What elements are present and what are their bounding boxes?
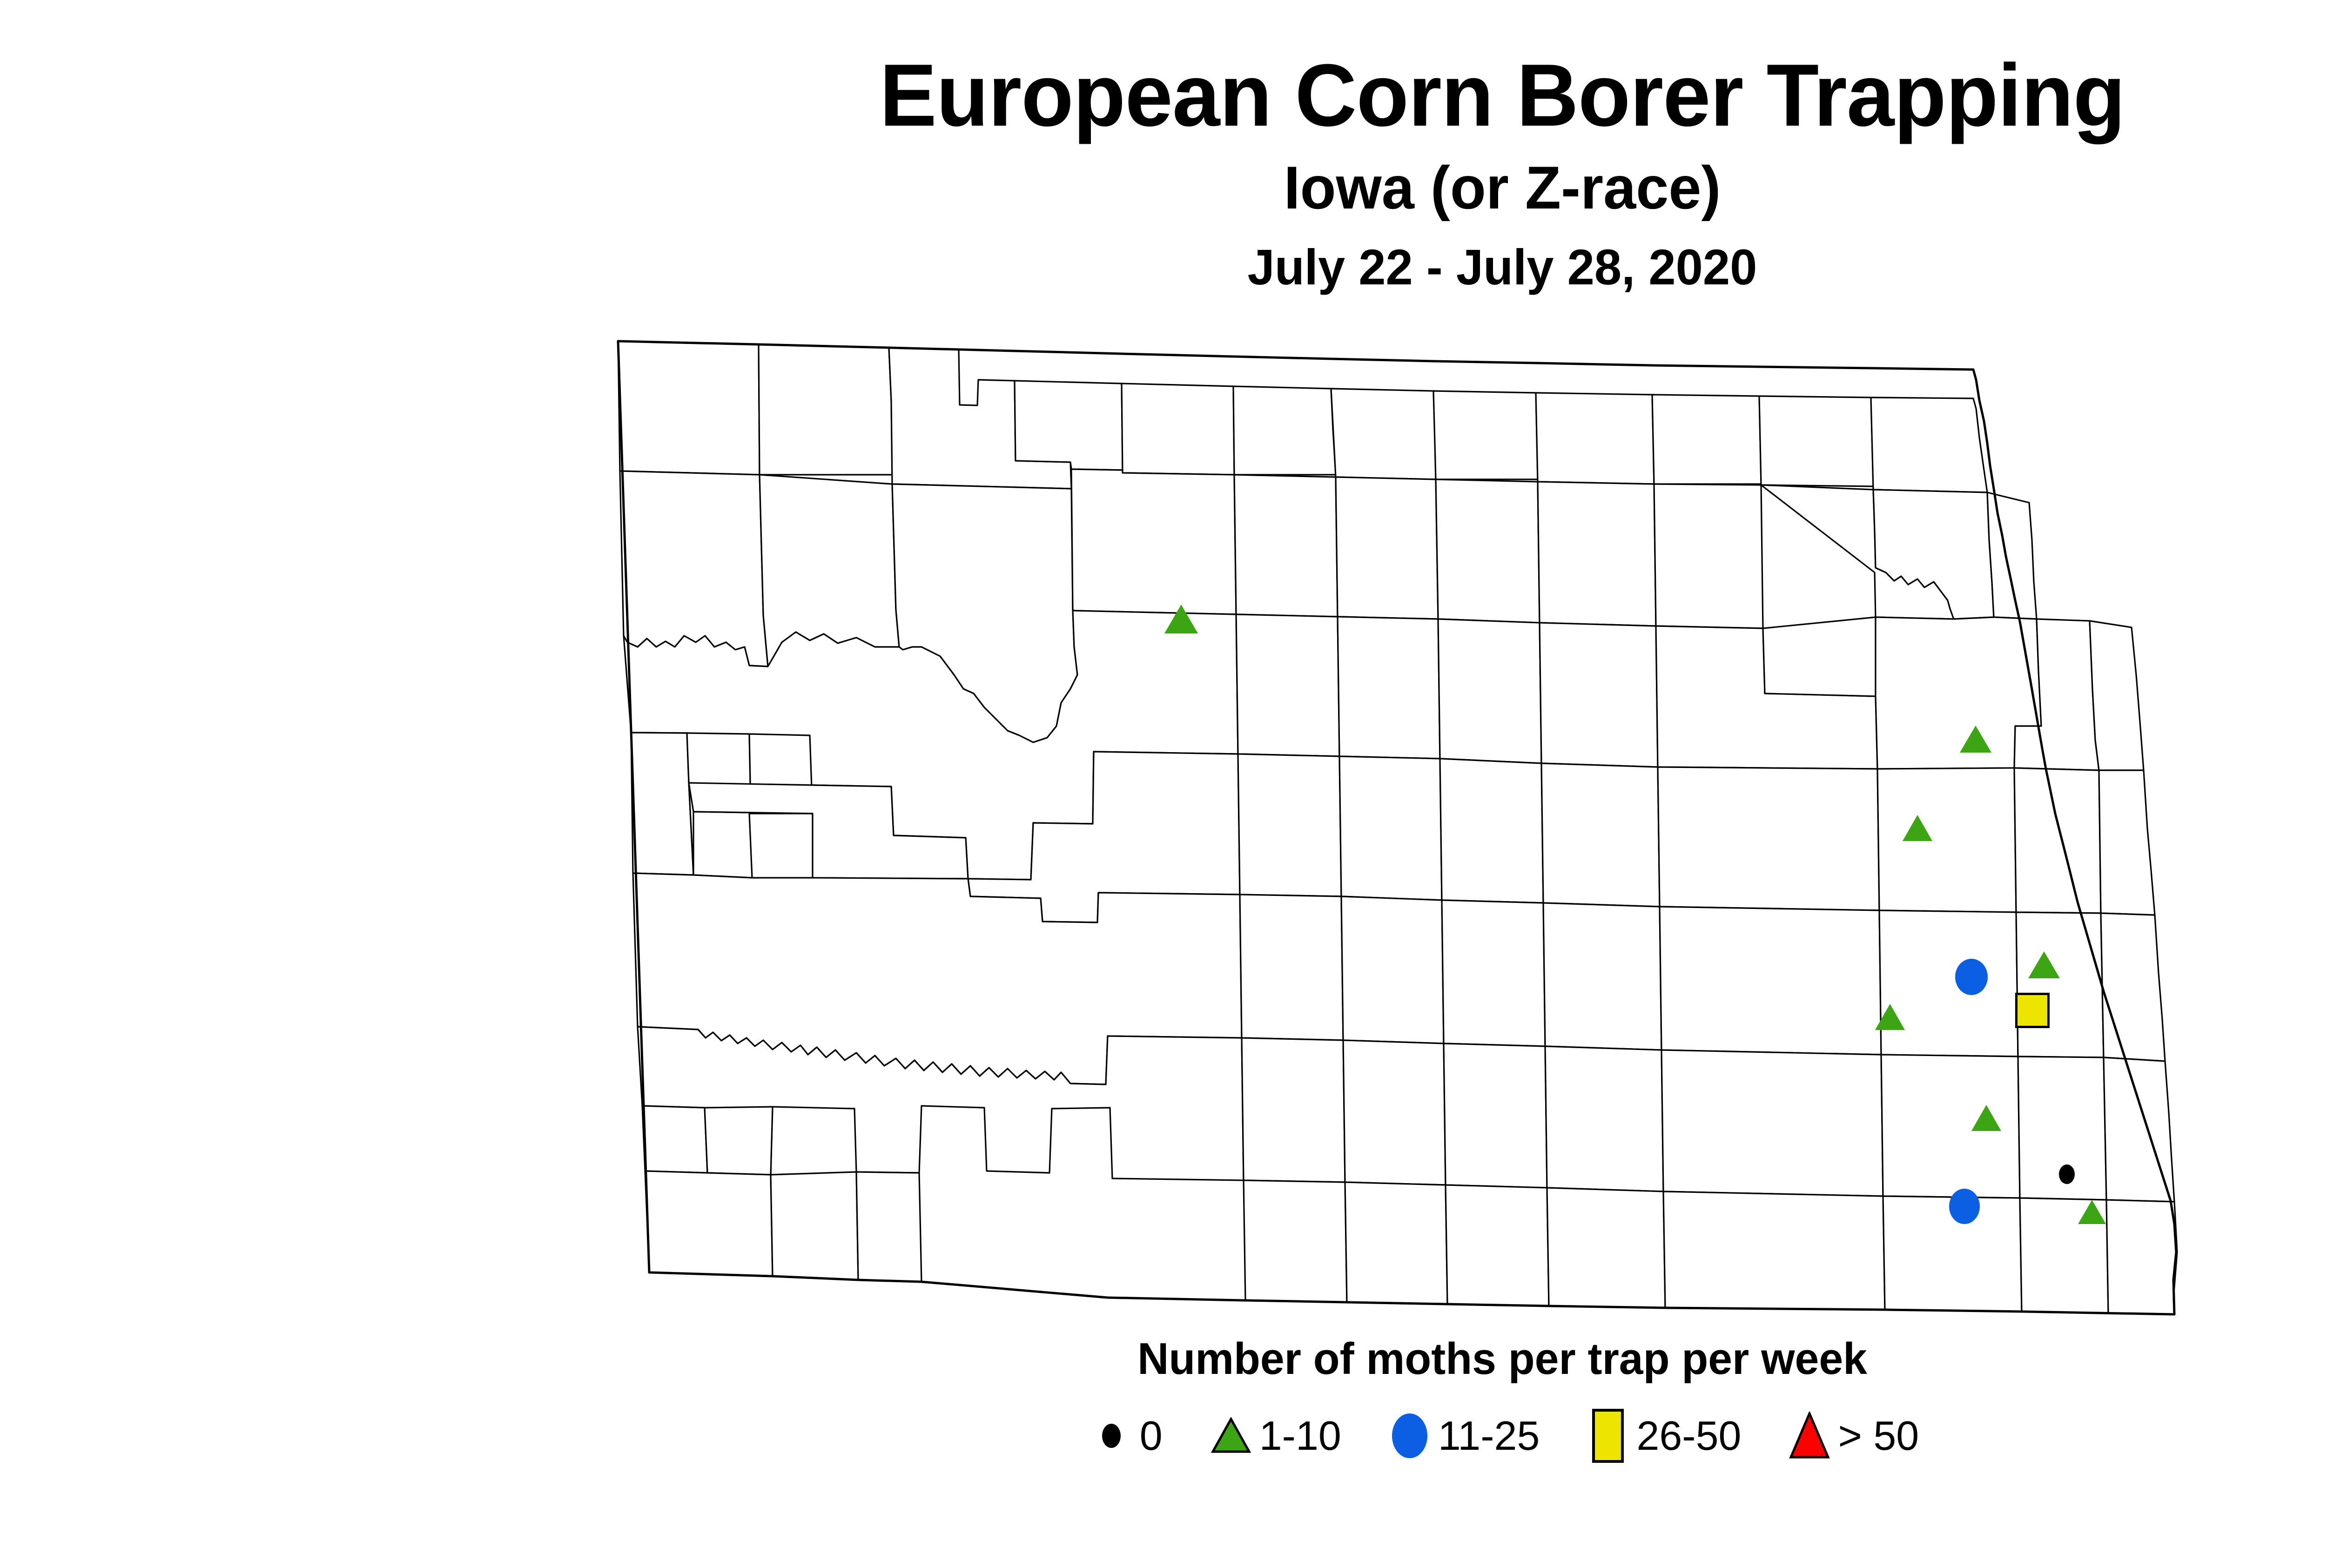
legend: 0 1-10 11-25 26-50 > 50 xyxy=(0,1410,2327,1461)
circle-icon xyxy=(1384,1410,1435,1461)
trap-marker-triangle[interactable] xyxy=(1164,605,1198,633)
map-page: European Corn Borer Trapping Iowa (or Z-… xyxy=(0,0,2327,1568)
dot-icon xyxy=(1086,1410,1137,1461)
legend-title: Number of moths per trap per week xyxy=(45,1333,2327,1385)
legend-item-26-50[interactable]: 26-50 xyxy=(1582,1410,1741,1461)
legend-item-1-10[interactable]: 1-10 xyxy=(1205,1410,1341,1461)
legend-item-0[interactable]: 0 xyxy=(1086,1410,1163,1461)
legend-label: 0 xyxy=(1140,1412,1163,1460)
county-boundaries xyxy=(618,341,2177,1314)
trap-marker-triangle[interactable] xyxy=(1971,1105,2001,1131)
page-title: European Corn Borer Trapping xyxy=(45,51,2327,140)
legend-item-gt-50[interactable]: > 50 xyxy=(1784,1410,1919,1461)
trap-marker-triangle[interactable] xyxy=(1875,1004,1905,1030)
legend-item-11-25[interactable]: 11-25 xyxy=(1384,1410,1540,1461)
map-svg xyxy=(549,321,2206,1322)
trap-marker-dot[interactable] xyxy=(2059,1164,2075,1184)
square-icon xyxy=(1582,1410,1634,1461)
trap-marker-circle[interactable] xyxy=(1955,959,1988,995)
trap-marker-triangle[interactable] xyxy=(1903,815,1932,841)
trap-marker-square[interactable] xyxy=(2015,993,2050,1028)
legend-label: > 50 xyxy=(1838,1412,1919,1460)
legend-label: 1-10 xyxy=(1259,1412,1341,1460)
date-range: July 22 - July 28, 2020 xyxy=(45,242,2327,292)
trap-marker-triangle[interactable] xyxy=(1960,726,1991,753)
trap-marker-triangle[interactable] xyxy=(2028,951,2060,978)
north-dakota-county-map xyxy=(549,321,2206,1322)
triangle-icon xyxy=(1784,1410,1835,1461)
legend-label: 11-25 xyxy=(1438,1412,1540,1460)
triangle-icon xyxy=(1205,1410,1257,1461)
trap-marker-triangle[interactable] xyxy=(2078,1200,2106,1224)
page-subtitle: Iowa (or Z-race) xyxy=(45,157,2327,218)
trap-marker-circle[interactable] xyxy=(1949,1189,1980,1224)
legend-label: 26-50 xyxy=(1636,1412,1741,1460)
title-block: European Corn Borer Trapping Iowa (or Z-… xyxy=(0,0,2327,292)
